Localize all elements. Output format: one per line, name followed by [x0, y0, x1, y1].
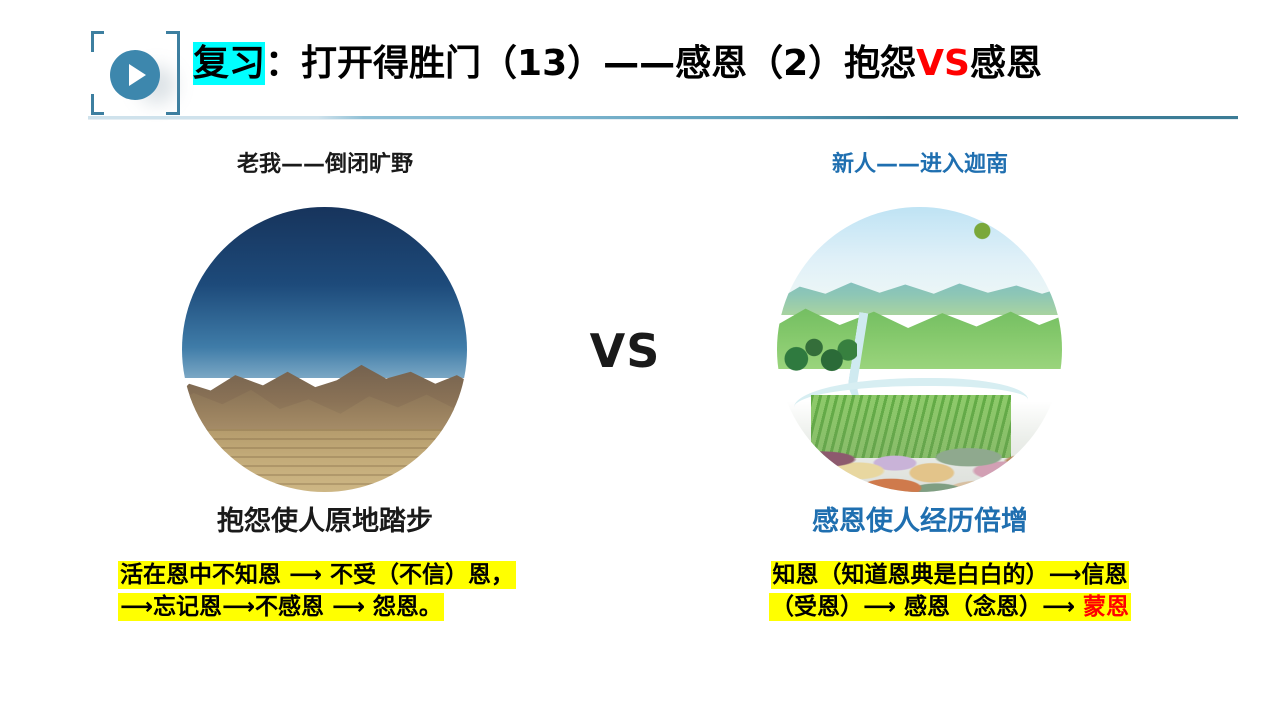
play-icon[interactable]	[110, 50, 160, 100]
right-note-line-1: 知恩（知道恩典是白白的）⟶信恩	[730, 560, 1170, 592]
title-vs-text: VS	[916, 43, 970, 84]
right-note-block: 知恩（知道恩典是白白的）⟶信恩 （受恩）⟶ 感恩（念恩）⟶ 蒙恩	[730, 560, 1170, 623]
bracket-gap-bottom	[104, 106, 166, 124]
canaan-grapevine	[959, 207, 1056, 253]
left-note-block: 活在恩中不知恩 ⟶ 不受（不信）恩， ⟶忘记恩⟶不感恩 ⟶ 怨恩。	[118, 560, 516, 623]
left-note-line-1: 活在恩中不知恩 ⟶ 不受（不信）恩，	[118, 560, 516, 592]
slide-header: 复习：打开得胜门（13）——感恩（2）抱怨VS感恩	[0, 0, 1280, 128]
left-column-caption: 抱怨使人原地踏步	[115, 506, 535, 538]
right-column-caption: 感恩使人经历倍增	[710, 506, 1130, 538]
page-title: 复习：打开得胜门（13）——感恩（2）抱怨VS感恩	[193, 46, 1042, 82]
play-triangle-glyph	[129, 64, 146, 86]
left-column-heading: 老我——倒闭旷野	[115, 152, 535, 178]
canaan-trees	[783, 321, 857, 384]
canaan-valley-illustration	[777, 207, 1062, 492]
right-note-emphasis: 蒙恩	[1083, 594, 1129, 620]
bracket-gap-top	[104, 24, 166, 40]
title-highlight: 复习	[193, 42, 265, 85]
desert-sky	[182, 207, 467, 378]
title-tail-text: 感恩	[970, 43, 1042, 84]
desert-plain	[182, 429, 467, 492]
versus-label: VS	[560, 324, 690, 378]
right-note-line-2-text: （受恩）⟶ 感恩（念恩）⟶	[771, 594, 1083, 620]
right-column-heading: 新人——进入迦南	[710, 152, 1130, 178]
left-note-line-2: ⟶忘记恩⟶不感恩 ⟶ 怨恩。	[118, 592, 516, 624]
canaan-crowd-front	[777, 435, 1062, 492]
header-divider-shadow	[88, 119, 1238, 120]
title-main-text: ：打开得胜门（13）——感恩（2）抱怨	[265, 43, 916, 84]
bracket-gap-left	[86, 52, 100, 94]
desert-wilderness-photo	[182, 207, 467, 492]
right-note-line-2: （受恩）⟶ 感恩（念恩）⟶ 蒙恩	[730, 592, 1170, 624]
